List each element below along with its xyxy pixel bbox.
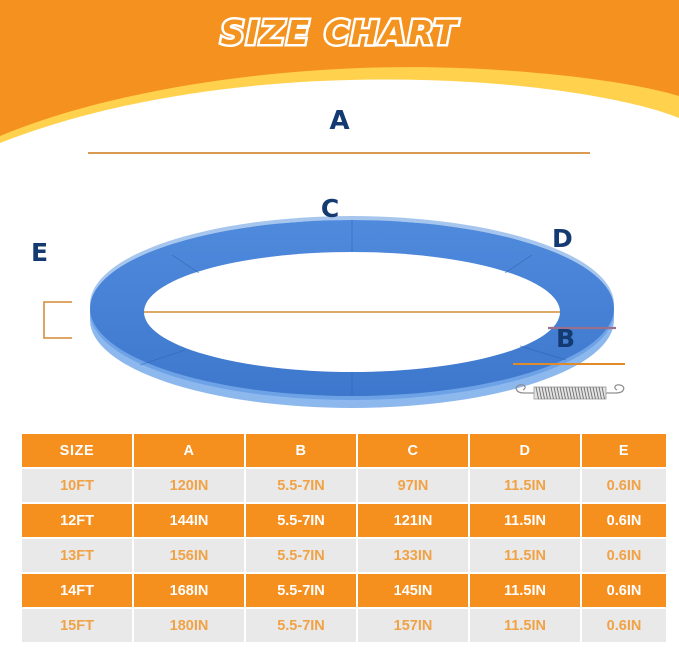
cell-b: 5.5-7IN <box>246 539 356 572</box>
cell-size: 13FT <box>22 539 132 572</box>
cell-d: 11.5IN <box>470 469 580 502</box>
dimension-line-a <box>88 152 590 154</box>
cell-d: 11.5IN <box>470 609 580 642</box>
cell-c: 133IN <box>358 539 468 572</box>
column-header-d: D <box>470 434 580 467</box>
cell-a: 168IN <box>134 574 244 607</box>
size-chart-table: SIZE A B C D E 10FT 120IN 5.5-7IN 97IN 1… <box>20 432 668 644</box>
table-row: 12FT 144IN 5.5-7IN 121IN 11.5IN 0.6IN <box>22 504 666 537</box>
cell-d: 11.5IN <box>470 504 580 537</box>
cell-e: 0.6IN <box>582 574 666 607</box>
cell-size: 10FT <box>22 469 132 502</box>
table-row: 15FT 180IN 5.5-7IN 157IN 11.5IN 0.6IN <box>22 609 666 642</box>
cell-c: 97IN <box>358 469 468 502</box>
dimension-label-c: C <box>0 196 660 221</box>
cell-a: 156IN <box>134 539 244 572</box>
dimension-line-b <box>513 363 625 365</box>
cell-e: 0.6IN <box>582 609 666 642</box>
cell-size: 15FT <box>22 609 132 642</box>
cell-e: 0.6IN <box>582 539 666 572</box>
cell-size: 14FT <box>22 574 132 607</box>
cell-b: 5.5-7IN <box>246 504 356 537</box>
cell-d: 11.5IN <box>470 539 580 572</box>
product-diagram: A C <box>0 100 679 430</box>
cell-a: 120IN <box>134 469 244 502</box>
cell-b: 5.5-7IN <box>246 609 356 642</box>
cell-size: 12FT <box>22 504 132 537</box>
spring-icon <box>510 378 630 408</box>
dimension-label-a: A <box>0 108 679 134</box>
column-header-e: E <box>582 434 666 467</box>
table-header-row: SIZE A B C D E <box>22 434 666 467</box>
cell-e: 0.6IN <box>582 469 666 502</box>
dimension-label-d: D <box>552 226 573 251</box>
column-header-a: A <box>134 434 244 467</box>
table-row: 13FT 156IN 5.5-7IN 133IN 11.5IN 0.6IN <box>22 539 666 572</box>
dimension-label-b: B <box>556 326 575 351</box>
cell-e: 0.6IN <box>582 504 666 537</box>
cell-a: 180IN <box>134 609 244 642</box>
table-row: 14FT 168IN 5.5-7IN 145IN 11.5IN 0.6IN <box>22 574 666 607</box>
cell-c: 157IN <box>358 609 468 642</box>
cell-a: 144IN <box>134 504 244 537</box>
column-header-c: C <box>358 434 468 467</box>
cell-d: 11.5IN <box>470 574 580 607</box>
page-title: SIZE CHART <box>0 13 679 52</box>
cell-c: 145IN <box>358 574 468 607</box>
column-header-b: B <box>246 434 356 467</box>
table-row: 10FT 120IN 5.5-7IN 97IN 11.5IN 0.6IN <box>22 469 666 502</box>
cell-b: 5.5-7IN <box>246 469 356 502</box>
dimension-label-e: E <box>31 240 48 265</box>
column-header-size: SIZE <box>22 434 132 467</box>
cell-c: 121IN <box>358 504 468 537</box>
cell-b: 5.5-7IN <box>246 574 356 607</box>
